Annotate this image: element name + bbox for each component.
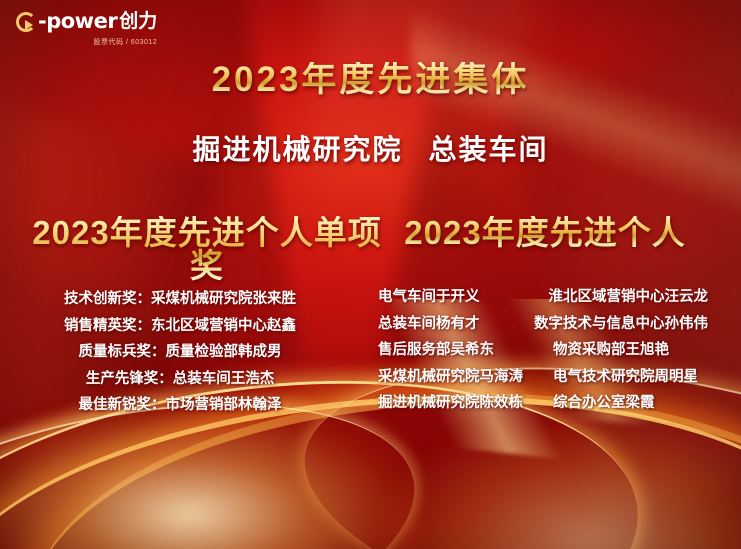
list-item: 质量标兵奖：质量检验部韩成男 (55, 339, 305, 366)
collective-winner-2: 总装车间 (429, 134, 549, 165)
section-heading-advanced-individuals: 2023年度先进个人 (400, 216, 690, 249)
list-item: 售后服务部吴希东 物资采购部王旭艳 (378, 337, 708, 364)
special-awards-list: 技术创新奖：采煤机械研究院张来胜 销售精英奖：东北区域营销中心赵鑫 质量标兵奖：… (55, 286, 305, 419)
stock-code-label: 股票代码 / 603012 (16, 37, 157, 47)
winner-name: 物资采购部王旭艳 (553, 337, 708, 364)
winner-name: 淮北区域营销中心汪云龙 (549, 284, 709, 311)
list-item: 掘进机械研究院陈效栋 综合办公室梁霞 (378, 390, 708, 417)
list-item: 总装车间杨有才 数字技术与信息中心孙伟伟 (378, 311, 708, 338)
list-item: 最佳新锐奖：市场营销部林翰泽 (55, 392, 305, 419)
collective-winners: 掘进机械研究院总装车间 (0, 136, 741, 164)
award-poster: -power 创力 股票代码 / 603012 2023年度先进集体 掘进机械研… (0, 0, 741, 549)
c-power-logo-mark-icon (16, 12, 36, 32)
list-item: 技术创新奖：采煤机械研究院张来胜 (55, 286, 305, 313)
list-item: 销售精英奖：东北区域营销中心赵鑫 (55, 313, 305, 340)
logo-wordmark: -power (38, 11, 117, 32)
section-heading-individual-special-awards: 2023年度先进个人单项奖 (22, 216, 392, 282)
list-item: 生产先锋奖：总装车间王浩杰 (55, 366, 305, 393)
winner-name: 电气车间于开义 (378, 284, 549, 311)
winner-name: 总装车间杨有才 (378, 311, 534, 338)
list-item: 采煤机械研究院马海涛 电气技术研究院周明星 (378, 364, 708, 391)
winner-name: 采煤机械研究院马海涛 (378, 364, 553, 391)
page-title: 2023年度先进集体 (0, 62, 741, 97)
advanced-individuals-list: 电气车间于开义 淮北区域营销中心汪云龙 总装车间杨有才 数字技术与信息中心孙伟伟… (378, 284, 708, 417)
winner-name: 掘进机械研究院陈效栋 (378, 390, 553, 417)
winner-name: 电气技术研究院周明星 (553, 364, 708, 391)
list-item: 电气车间于开义 淮北区域营销中心汪云龙 (378, 284, 708, 311)
collective-winner-1: 掘进机械研究院 (192, 134, 402, 165)
winner-name: 综合办公室梁霞 (553, 390, 708, 417)
logo-wordmark-cn: 创力 (119, 12, 157, 31)
winner-name: 数字技术与信息中心孙伟伟 (534, 311, 708, 338)
winner-name: 售后服务部吴希东 (378, 337, 553, 364)
brand-logo: -power 创力 股票代码 / 603012 (16, 11, 157, 47)
